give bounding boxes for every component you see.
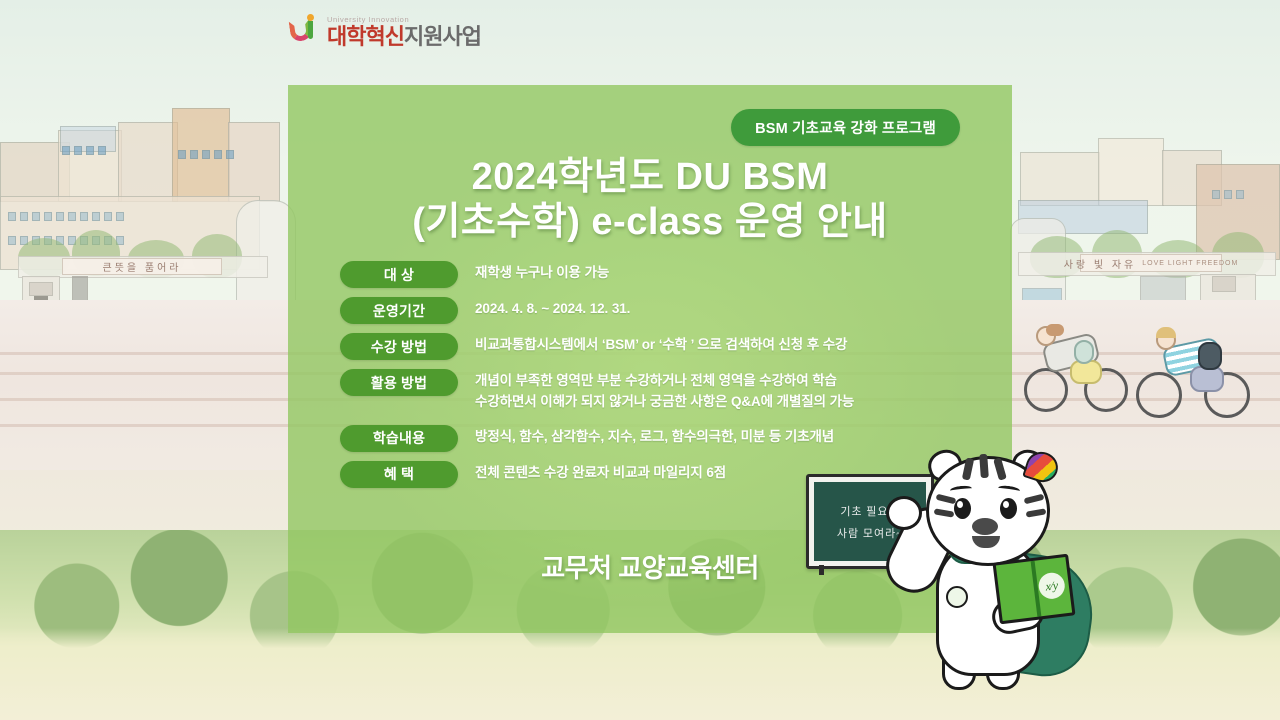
logo-english-text: University Innovation: [327, 16, 481, 24]
bicycle-wheel: [1136, 372, 1182, 418]
gate-right-sign-text-en: LOVE LIGHT FREEDOM: [1142, 260, 1238, 267]
info-row-list: 대 상 재학생 누구나 이용 가능 운영기간 2024. 4. 8. ~ 202…: [340, 261, 982, 497]
page-title: 2024학년도 DU BSM (기초수학) e-class 운영 안내: [288, 155, 1012, 245]
info-value: 전체 콘텐츠 수강 완료자 비교과 마일리지 6점: [475, 463, 726, 484]
logo-text-block: University Innovation 대학혁신지원사업: [327, 16, 481, 49]
logo-korean-text: 대학혁신지원사업: [327, 26, 481, 48]
info-value: 2024. 4. 8. ~ 2024. 12. 31.: [475, 299, 630, 320]
gate-left-signboard: 큰뜻을 품어라: [62, 258, 222, 275]
window: [226, 150, 234, 159]
window: [190, 150, 198, 159]
info-value: 재학생 누구나 이용 가능: [475, 263, 609, 284]
window: [98, 146, 106, 155]
info-value-group: 비교과통합시스템에서 ‘BSM’ or ‘수학 ’ 으로 검색하여 신청 후 수…: [475, 333, 847, 356]
top-bar: [0, 0, 1280, 70]
info-label-curriculum: 학습내용: [340, 425, 458, 452]
logo-j-shape: [306, 14, 313, 44]
cyclist-hair: [1156, 327, 1176, 338]
mascot-eye-highlight: [957, 501, 963, 508]
cyclist-hair: [1046, 324, 1064, 336]
window: [20, 212, 28, 221]
cyclist-backpack: [1198, 342, 1222, 370]
window: [68, 212, 76, 221]
window: [202, 150, 210, 159]
window: [56, 212, 64, 221]
window: [1236, 190, 1244, 199]
window-row: [8, 212, 124, 221]
bicycle-wheel: [1024, 368, 1068, 412]
window: [32, 212, 40, 221]
info-label-how-to-enroll: 수강 방법: [340, 333, 458, 360]
mascot-book: x⁄y: [993, 554, 1076, 625]
window: [1212, 190, 1220, 199]
logo-korean-red: 대학혁신: [327, 24, 404, 49]
info-row: 대 상 재학생 누구나 이용 가능: [340, 261, 982, 288]
window: [8, 212, 16, 221]
building: [118, 122, 178, 202]
info-label-period: 운영기간: [340, 297, 458, 324]
info-value-group: 2024. 4. 8. ~ 2024. 12. 31.: [475, 297, 630, 320]
gate-right-signboard: 사랑 빛 자유 LOVE LIGHT FREEDOM: [1080, 254, 1222, 272]
window-row: [178, 150, 234, 159]
logo-korean-gray: 지원사업: [404, 24, 481, 49]
title-line-1: 2024학년도 DU BSM: [288, 155, 1012, 200]
cyclist-backpack: [1074, 340, 1094, 364]
mascot-eye: [954, 498, 971, 519]
info-value-group: 전체 콘텐츠 수강 완료자 비교과 마일리지 6점: [475, 461, 726, 484]
info-value: 개념이 부족한 영역만 부분 수강하거나 전체 영역을 수강하여 학습: [475, 371, 854, 392]
logo-j-stem: [308, 21, 313, 39]
info-value-group: 개념이 부족한 영역만 부분 수강하거나 전체 영역을 수강하여 학습 수강하면…: [475, 369, 854, 413]
info-label-target: 대 상: [340, 261, 458, 288]
info-row: 수강 방법 비교과통합시스템에서 ‘BSM’ or ‘수학 ’ 으로 검색하여 …: [340, 333, 982, 360]
mascot-stripe: [979, 454, 989, 478]
window: [74, 146, 82, 155]
info-value: 수강하면서 이해가 되지 않거나 궁금한 사항은 Q&A에 개별질의 가능: [475, 392, 854, 413]
university-innovation-logo: University Innovation 대학혁신지원사업: [290, 14, 481, 48]
window: [214, 150, 222, 159]
title-line-2: (기초수학) e-class 운영 안내: [288, 200, 1012, 245]
window-row: [1212, 190, 1244, 199]
building: [228, 122, 280, 202]
white-tiger-mascot: x⁄y: [900, 448, 1130, 713]
info-value: 비교과통합시스템에서 ‘BSM’ or ‘수학 ’ 으로 검색하여 신청 후 수…: [475, 335, 847, 356]
gate-right-emblem: [1212, 276, 1236, 292]
gate-left-sign-text: 큰뜻을 품어라: [103, 259, 182, 274]
mascot-paw: [886, 496, 922, 530]
uj-logo-icon: [290, 14, 320, 48]
mascot-eye: [1000, 498, 1017, 519]
info-row: 학습내용 방정식, 함수, 삼각함수, 지수, 로그, 함수의극한, 미분 등 …: [340, 425, 982, 452]
logo-j-dot: [307, 14, 314, 21]
info-label-benefit: 혜 택: [340, 461, 458, 488]
window: [116, 212, 124, 221]
info-value-group: 재학생 누구나 이용 가능: [475, 261, 609, 284]
mascot-eye-highlight: [1003, 501, 1009, 508]
program-badge: BSM 기초교육 강화 프로그램: [731, 109, 960, 146]
gate-left-emblem: [29, 282, 53, 296]
cyclist-right: [1132, 330, 1272, 430]
mascot-medal: [946, 586, 968, 608]
building: [1020, 152, 1100, 206]
window-row: [62, 146, 106, 155]
info-row: 운영기간 2024. 4. 8. ~ 2024. 12. 31.: [340, 297, 982, 324]
info-label-how-to-use: 활용 방법: [340, 369, 458, 396]
gate-right-sign-text-ko: 사랑 빛 자유: [1064, 256, 1137, 271]
book-label: x⁄y: [1037, 571, 1066, 600]
info-value-group: 방정식, 함수, 삼각함수, 지수, 로그, 함수의극한, 미분 등 기초개념: [475, 425, 834, 448]
window: [80, 212, 88, 221]
window: [92, 212, 100, 221]
mascot-nose: [972, 518, 998, 535]
window: [1224, 190, 1232, 199]
info-row: 활용 방법 개념이 부족한 영역만 부분 수강하거나 전체 영역을 수강하여 학…: [340, 369, 982, 413]
building: [1098, 138, 1164, 206]
window: [44, 212, 52, 221]
window: [178, 150, 186, 159]
poster-canvas: 큰뜻을 품어라 동명대학교 사랑 빛 자유 LOVE LIGHT FREEDOM…: [0, 0, 1280, 720]
info-value: 방정식, 함수, 삼각함수, 지수, 로그, 함수의극한, 미분 등 기초개념: [475, 427, 834, 448]
window: [104, 212, 112, 221]
window: [62, 146, 70, 155]
window: [86, 146, 94, 155]
blackboard-leg: [819, 565, 824, 575]
